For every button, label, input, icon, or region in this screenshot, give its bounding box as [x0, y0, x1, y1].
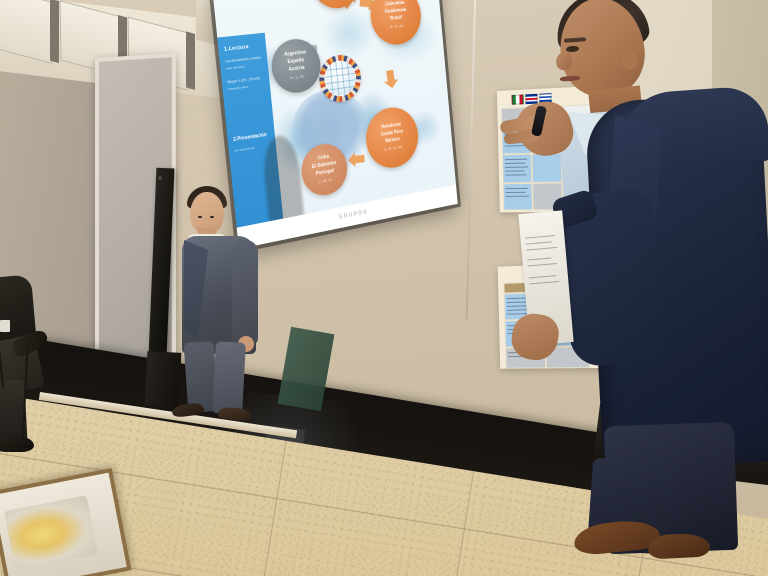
agenda-heading-1: 1.Lectura — [224, 43, 262, 53]
ceiling-gap — [186, 31, 195, 90]
name-badge — [0, 320, 10, 332]
shoe — [647, 532, 710, 559]
trouser-leg — [212, 341, 246, 414]
node-line: México — [385, 136, 400, 145]
slide-footer-label: GRUPOS — [339, 209, 369, 220]
node-line: Brasil — [390, 15, 402, 23]
shoe — [218, 407, 253, 421]
node-sub: R. / E. / M. — [390, 24, 404, 31]
shoe — [171, 402, 204, 418]
globe-inner — [323, 59, 358, 98]
screenshot-root: 1.Lectura Los documentos y textos base d… — [0, 0, 768, 576]
node-line: Austria — [288, 65, 305, 74]
presenter — [498, 0, 768, 576]
node-sub: S. / R. / A. / M. — [384, 145, 403, 153]
speaker-driver — [158, 176, 162, 180]
node-sub: J. / M. / S. — [319, 178, 333, 186]
ceiling-gap — [50, 0, 59, 63]
attendee-seated — [0, 276, 60, 456]
jacket-sleeve — [232, 240, 258, 346]
framed-poster-art — [4, 495, 98, 570]
shoe — [0, 436, 34, 452]
node-sub: A. / L. / R. — [290, 74, 304, 81]
agenda-heading-2: 2.Presentación — [233, 131, 271, 142]
ceiling-panel — [0, 0, 53, 64]
attendee-walking — [160, 184, 280, 424]
